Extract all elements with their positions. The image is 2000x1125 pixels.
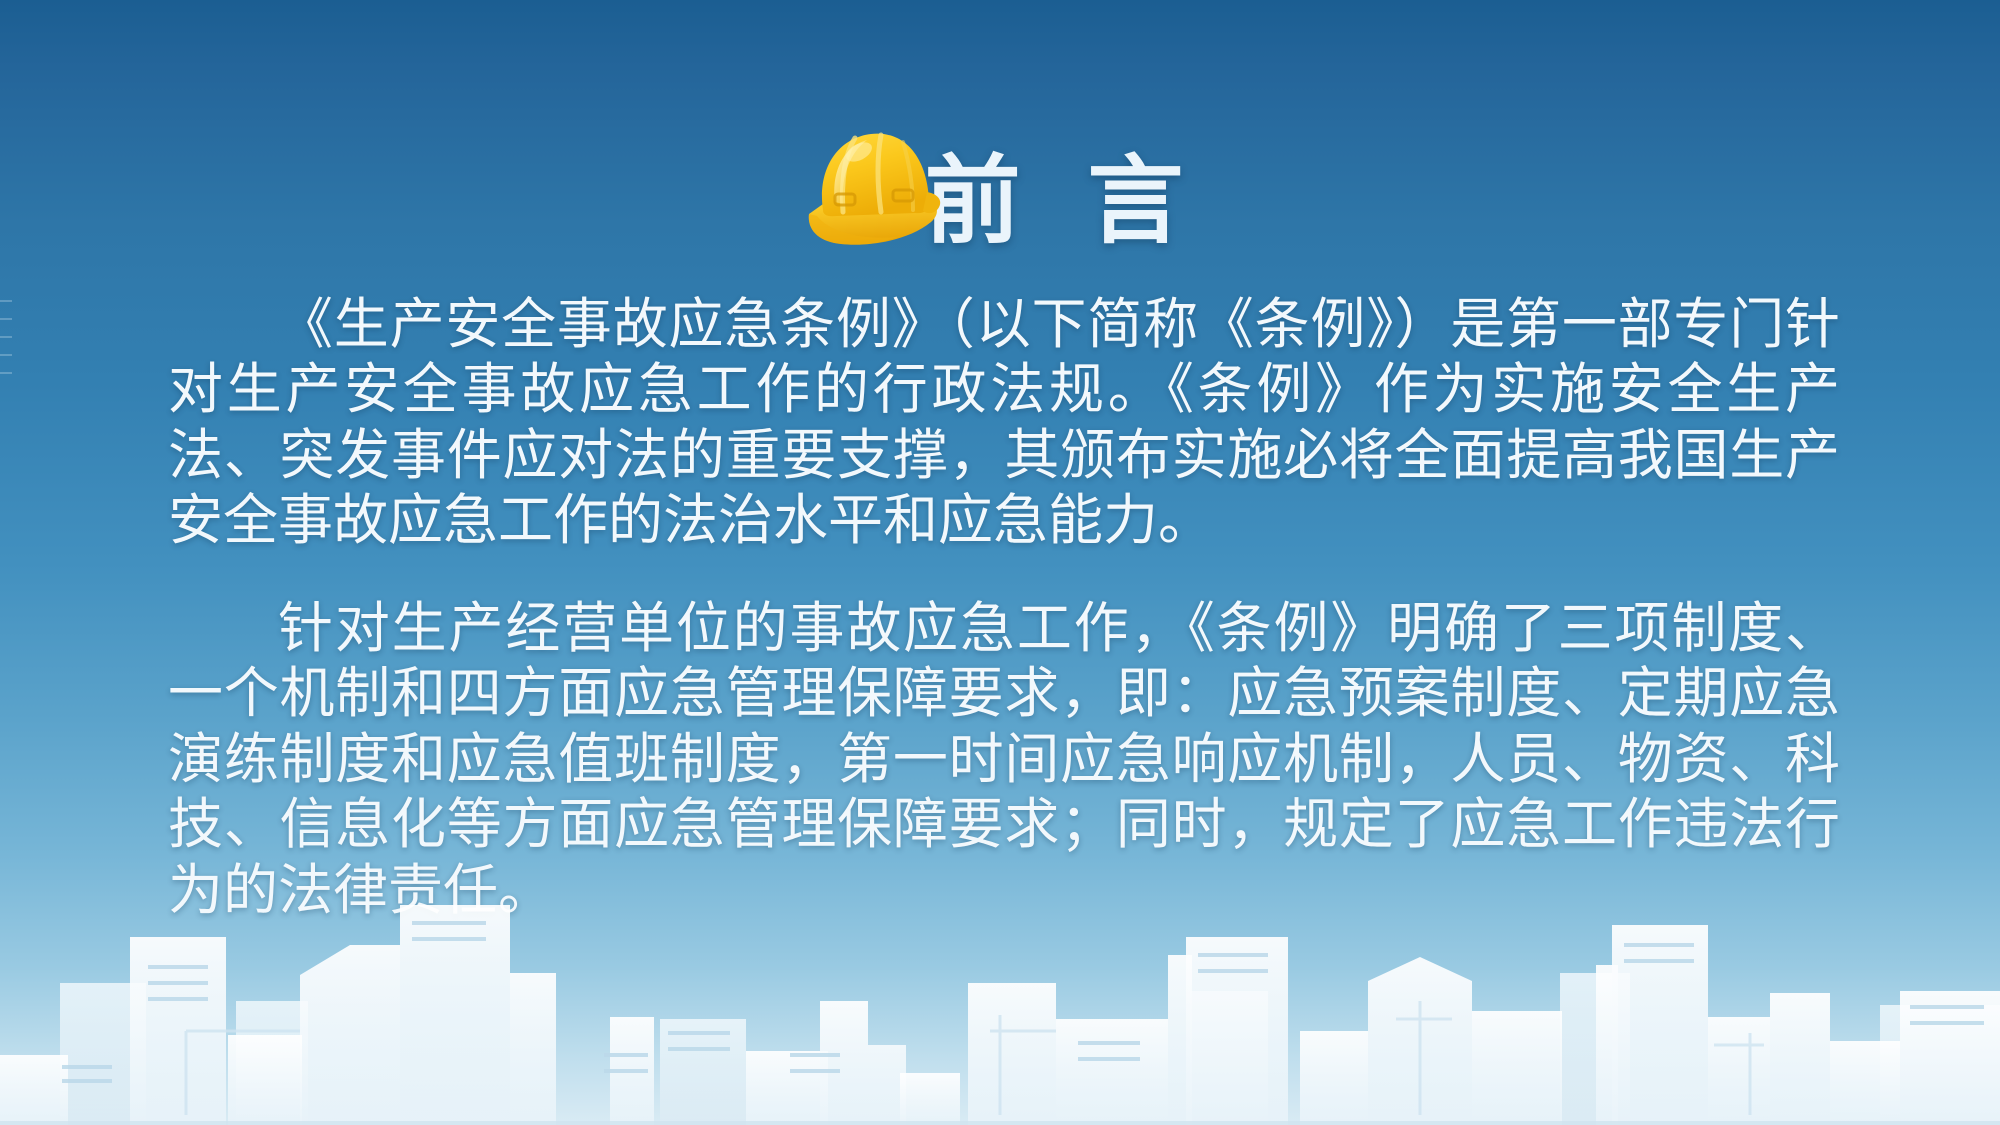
city-skyline-decoration — [0, 805, 2000, 1125]
safety-helmet-icon — [797, 118, 947, 250]
edge-tick-marks-decoration — [0, 300, 14, 440]
paragraph-1: 《生产安全事故应急条例》（以下简称《条例》）是第一部专门针对生产安全事故应急工作… — [168, 292, 1840, 554]
slide-header: 前 言 — [0, 96, 2000, 256]
page-title: 前 言 — [925, 154, 1204, 256]
presentation-slide: 前 言 《生产安全事故应急条例》（以下简称《条例》）是第一部专门针对生产安全事故… — [0, 0, 2000, 1125]
